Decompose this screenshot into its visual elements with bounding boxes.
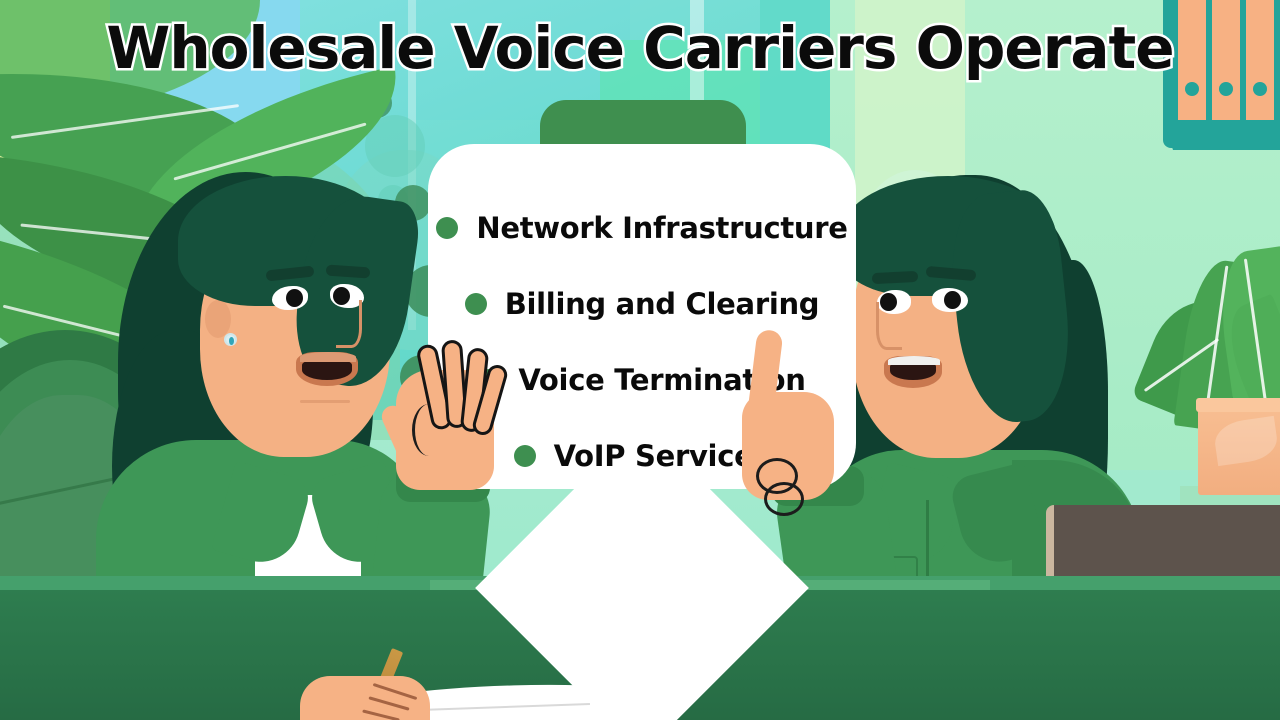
- foreground-hands: [0, 0, 1280, 720]
- palm-line: [412, 404, 446, 456]
- page-title: Wholesale Voice Carriers Operate: [0, 14, 1280, 82]
- knuckle-line: [764, 482, 804, 516]
- illustration-canvas: Network Infrastructure Billing and Clear…: [0, 0, 1280, 720]
